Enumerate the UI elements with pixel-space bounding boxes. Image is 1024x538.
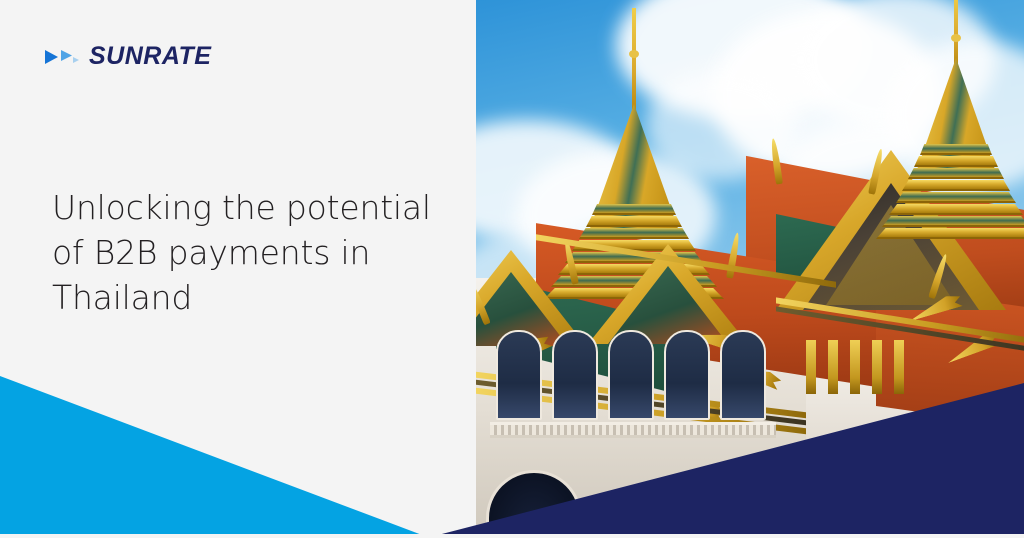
gold-column — [828, 340, 838, 394]
spire-tier — [902, 180, 1010, 191]
gold-column — [894, 340, 904, 394]
gold-column — [806, 340, 816, 394]
sunrate-logo[interactable]: SUNRATE — [44, 44, 211, 69]
spire-tier — [586, 216, 682, 227]
arched-window — [552, 330, 598, 420]
gold-column — [872, 340, 882, 394]
hero-photo — [476, 0, 1024, 538]
spire-tier — [889, 204, 1023, 215]
spire-tier — [876, 228, 1024, 239]
marketing-banner: SUNRATE Unlocking the potential of B2B p… — [0, 0, 1024, 538]
spire-tier — [920, 144, 992, 155]
gold-column-row — [806, 340, 904, 394]
bottom-edge-strip — [0, 534, 1024, 538]
spire-tier — [914, 156, 998, 167]
balustrade — [490, 422, 776, 438]
spire-needle — [632, 8, 636, 116]
golden-spire-right — [881, 0, 1024, 292]
arched-window — [664, 330, 710, 420]
gold-column — [850, 340, 860, 394]
double-triangle-play-icon — [44, 46, 80, 68]
spire-tier — [908, 168, 1004, 179]
temple-architecture — [476, 0, 1024, 538]
spire-tier — [896, 192, 1016, 203]
spire-tier — [882, 216, 1024, 227]
brand-wordmark: SUNRATE — [89, 44, 211, 69]
arched-window-row — [496, 328, 766, 420]
spire-tier — [592, 204, 676, 215]
page-title: Unlocking the potential of B2B payments … — [52, 186, 462, 321]
spire-tier — [579, 228, 689, 239]
arched-window — [496, 330, 542, 420]
arched-window — [608, 330, 654, 420]
arched-window — [720, 330, 766, 420]
